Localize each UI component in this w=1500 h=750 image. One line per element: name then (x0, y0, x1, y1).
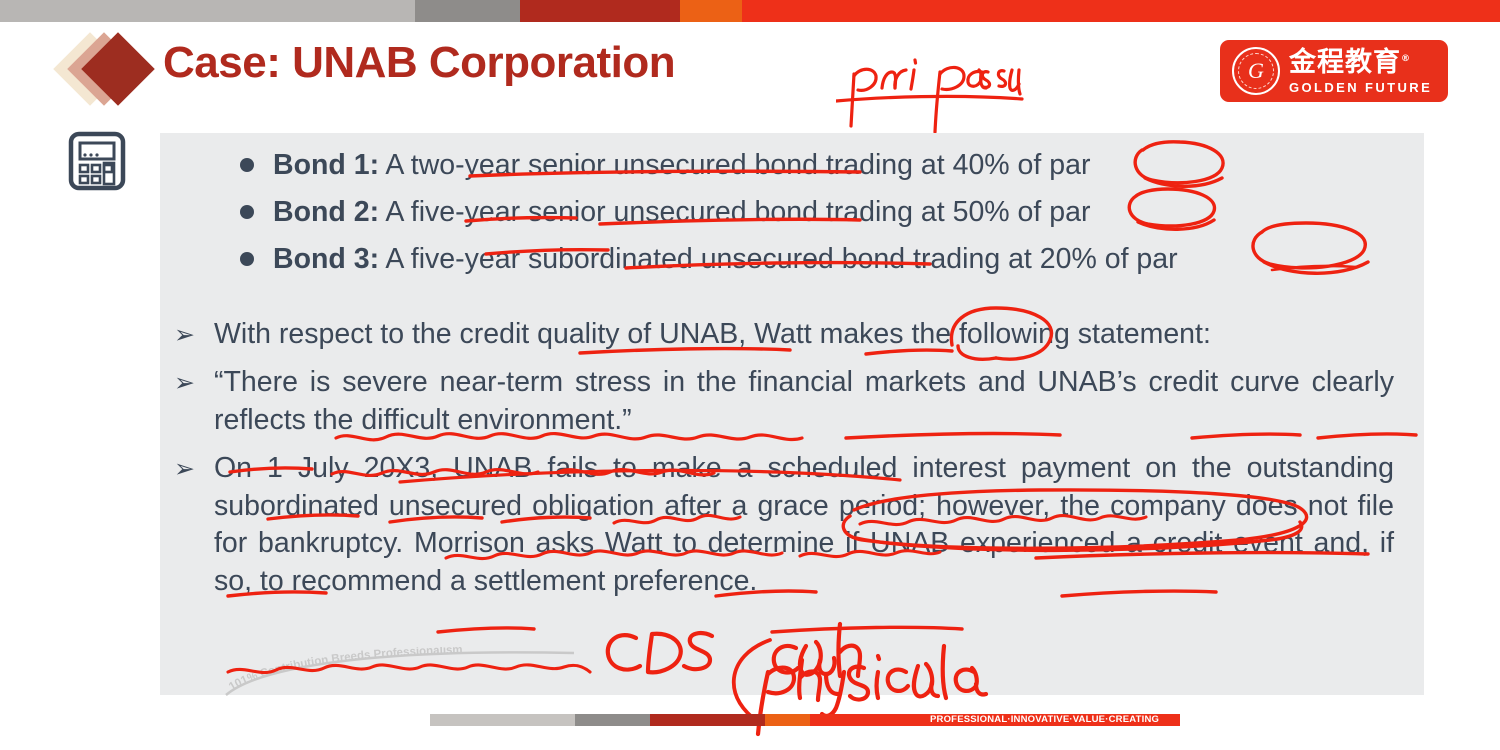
brand-badge: G 金程教育® GOLDEN FUTURE (1220, 40, 1448, 102)
list-item: Bond 2: A five-year senior unsecured bon… (240, 190, 1415, 235)
watermark-text: 101% Contribution Breeds Professionalism (227, 647, 463, 693)
bond-label: Bond 2: (273, 196, 379, 228)
top-bar-segment-1 (415, 0, 520, 22)
list-item: Bond 3: A five-year subordinated unsecur… (240, 237, 1415, 282)
footer-bar-segment-2 (650, 714, 765, 726)
paragraph-list: ➢ With respect to the credit quality of … (174, 316, 1394, 601)
footer-bar-segment-3 (765, 714, 810, 726)
header: Case: UNAB Corporation G 金程教育® (0, 22, 1500, 112)
diamond-logo-icon (60, 34, 170, 104)
calculator-icon (68, 131, 126, 191)
arrow-bullet-icon: ➢ (174, 454, 194, 484)
svg-text:101% Contribution Breeds Profe: 101% Contribution Breeds Professionalism (227, 647, 463, 693)
slide-content-panel: Bond 1: A two-year senior unsecured bond… (160, 133, 1424, 695)
paragraph-text: “There is severe near-term stress in the… (214, 364, 1394, 440)
top-bar-segment-4 (742, 0, 1500, 22)
bullet-dot-icon (240, 205, 254, 219)
paragraph-text: On 1 July 20X3, UNAB fails to make a sch… (214, 450, 1394, 602)
brand-seal-letter: G (1234, 49, 1278, 93)
top-bar-segment-0 (0, 0, 415, 22)
bond-line: Bond 3: A five-year subordinated unsecur… (273, 237, 1388, 282)
footer-watermark: 101% Contribution Breeds Professionalism (222, 647, 582, 697)
paragraph-item: ➢ “There is severe near-term stress in t… (174, 364, 1394, 440)
registered-mark: ® (1401, 54, 1411, 64)
bullet-dot-icon (240, 252, 254, 266)
bond-label: Bond 3: (273, 243, 379, 275)
bond-text: A five-year senior unsecured bond tradin… (379, 196, 1090, 228)
top-color-bar (0, 0, 1500, 22)
list-item: Bond 1: A two-year senior unsecured bond… (240, 143, 1415, 188)
bullet-dot-icon (240, 158, 254, 172)
handwritten-pari-passu-annotation (836, 44, 1036, 139)
bond-label: Bond 1: (273, 149, 379, 181)
top-bar-segment-2 (520, 0, 680, 22)
brand-name-cn: 金程教育® (1289, 49, 1432, 76)
top-bar-segment-3 (680, 0, 742, 22)
bond-list: Bond 1: A two-year senior unsecured bond… (240, 143, 1415, 284)
bond-line: Bond 2: A five-year senior unsecured bon… (273, 190, 1090, 235)
brand-seal-icon: G (1232, 47, 1280, 95)
bond-text: A two-year senior unsecured bond trading… (379, 149, 1090, 181)
footer-tagline: PROFESSIONAL·INNOVATIVE·VALUE·CREATING (930, 714, 1159, 725)
arrow-bullet-icon: ➢ (174, 320, 194, 350)
page-title: Case: UNAB Corporation (163, 38, 675, 88)
paragraph-item: ➢ On 1 July 20X3, UNAB fails to make a s… (174, 450, 1394, 602)
brand-name-cn-text: 金程教育 (1289, 47, 1401, 78)
paragraph-text: With respect to the credit quality of UN… (214, 316, 1394, 354)
paragraph-item: ➢ With respect to the credit quality of … (174, 316, 1394, 354)
footer-bar-segment-0 (430, 714, 575, 726)
arrow-bullet-icon: ➢ (174, 368, 194, 398)
bond-line: Bond 1: A two-year senior unsecured bond… (273, 143, 1090, 188)
brand-name-en: GOLDEN FUTURE (1289, 81, 1432, 94)
bond-text: A five-year subordinated unsecured bond … (379, 243, 1178, 275)
footer-bar-segment-1 (575, 714, 650, 726)
